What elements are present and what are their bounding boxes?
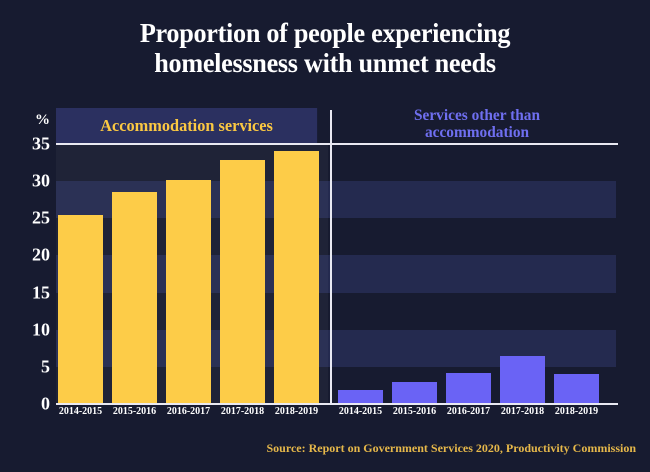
panel-header-other-services: Services other than accommodation xyxy=(342,104,613,146)
bar xyxy=(446,373,491,404)
x-axis-tick-label: 2014-2015 xyxy=(52,406,109,417)
x-axis-tick-label: 2016-2017 xyxy=(440,406,497,417)
source-note: Source: Report on Government Services 20… xyxy=(0,441,636,456)
y-axis-tick-0: 0 xyxy=(16,394,50,415)
bar xyxy=(500,356,545,404)
panel-header-accommodation-services: Accommodation services xyxy=(56,108,317,144)
y-axis-tick-10: 10 xyxy=(16,319,50,340)
plot-area xyxy=(56,144,618,404)
y-axis-tick-25: 25 xyxy=(16,208,50,229)
bar xyxy=(392,382,437,404)
x-axis-tick-label: 2015-2016 xyxy=(106,406,163,417)
bar xyxy=(338,390,383,404)
y-axis-tick-30: 30 xyxy=(16,171,50,192)
y-axis-tick-5: 5 xyxy=(16,356,50,377)
y-axis-tick-20: 20 xyxy=(16,245,50,266)
y-axis-unit-label: % xyxy=(24,112,50,129)
chart-root: Proportion of people experiencing homele… xyxy=(0,0,650,472)
bar xyxy=(274,151,319,404)
x-axis-tick-label: 2017-2018 xyxy=(494,406,551,417)
x-axis-tick-label: 2018-2019 xyxy=(268,406,325,417)
panel-divider xyxy=(330,110,332,405)
x-axis-tick-labels: 2014-20152015-20162016-20172017-20182018… xyxy=(56,406,618,426)
panel-header-other-label-line-1: Services other than xyxy=(414,108,540,125)
x-axis-tick-label: 2015-2016 xyxy=(386,406,443,417)
bar xyxy=(58,215,103,404)
panel-header-other-label-line-2: accommodation xyxy=(425,125,529,142)
bar-series-container xyxy=(56,144,618,404)
axis-top-line xyxy=(56,143,618,145)
axis-baseline xyxy=(56,403,618,405)
chart-title-line-1: Proportion of people experiencing xyxy=(10,18,641,48)
y-axis-tick-15: 15 xyxy=(16,282,50,303)
bar xyxy=(112,192,157,404)
x-axis-tick-label: 2018-2019 xyxy=(548,406,605,417)
x-axis-tick-label: 2014-2015 xyxy=(332,406,389,417)
chart-title-line-2: homelessness with unmet needs xyxy=(10,48,641,78)
x-axis-tick-label: 2017-2018 xyxy=(214,406,271,417)
x-axis-tick-label: 2016-2017 xyxy=(160,406,217,417)
bar xyxy=(166,180,211,404)
chart-title: Proportion of people experiencing homele… xyxy=(10,18,641,78)
bar xyxy=(220,160,265,404)
bar xyxy=(554,374,599,404)
y-axis-tick-35: 35 xyxy=(16,134,50,155)
panel-header-accommodation-label: Accommodation services xyxy=(100,116,273,136)
